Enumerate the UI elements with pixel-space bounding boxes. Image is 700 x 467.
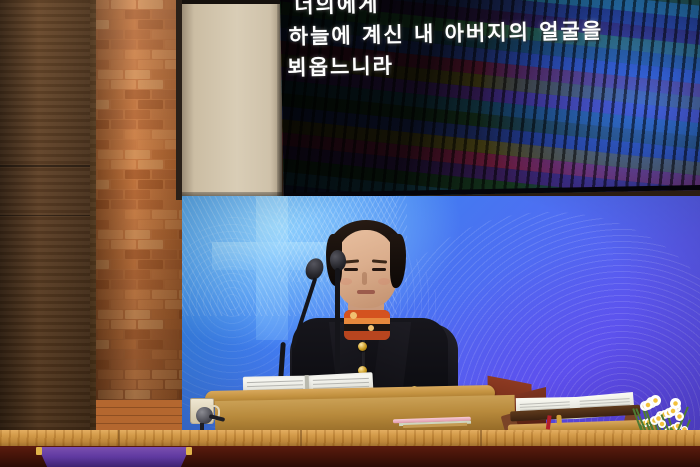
screen-lyrics: 너의에게 하늘에 계신 내 아버지의 얼굴을 뵈옵느니라 (280, 0, 700, 198)
cloth-tassel-left (36, 447, 42, 455)
wood-wall-left (0, 0, 96, 467)
cream-wall-panel (182, 0, 282, 200)
hair-side-right (390, 234, 406, 288)
photo-scene: 너의에게 하늘에 계신 내 아버지의 얼굴을 뵈옵느니라 (0, 0, 700, 467)
cloth-tassel-right (186, 447, 192, 455)
brick-column (96, 0, 182, 467)
lyric-line-2: 하늘에 계신 내 아버지의 얼굴을 (288, 15, 603, 51)
mic-stem-upper-left (291, 277, 318, 349)
eye-right (372, 268, 386, 271)
mouth (357, 290, 375, 294)
cheek-right (378, 278, 390, 285)
gold-tassel (556, 415, 562, 425)
projection-screen-upper: 너의에게 하늘에 계신 내 아버지의 얼굴을 뵈옵느니라 (280, 0, 700, 198)
lyric-line-1: 너의에게 (294, 0, 380, 20)
brick-vertical-gradient (96, 0, 182, 467)
jacket-button-1 (358, 342, 367, 351)
nose (362, 272, 367, 285)
stage-platform-top (0, 430, 700, 447)
purple-cloth (38, 447, 190, 467)
lyric-line-3: 뵈옵느니라 (287, 50, 394, 82)
